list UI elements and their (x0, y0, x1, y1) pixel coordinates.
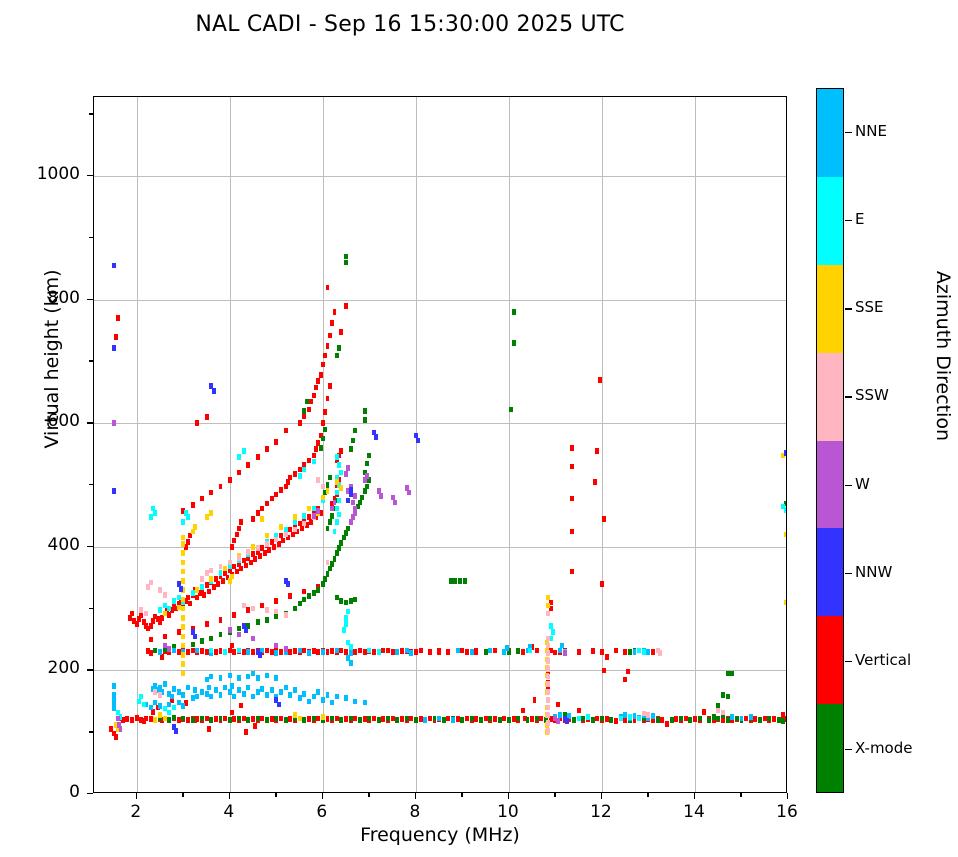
echo-point-x-mode (777, 717, 781, 723)
echo-point-nnw (346, 498, 350, 504)
echo-point-sse (181, 634, 185, 640)
echo-point-vertical (274, 492, 278, 498)
echo-point-vertical (228, 648, 232, 654)
echo-point-e (191, 590, 195, 596)
echo-point-vertical (595, 448, 599, 454)
y-minor-tick (89, 484, 93, 485)
echo-point-vertical (237, 470, 241, 476)
echo-point-x-mode (256, 716, 260, 722)
echo-point-x-mode (535, 716, 539, 722)
echo-point-x-mode (735, 716, 739, 722)
echo-point-vertical (391, 649, 395, 655)
echo-point-vertical (246, 607, 250, 613)
echo-point-e (342, 627, 346, 633)
echo-point-vertical (265, 501, 269, 507)
echo-point-nne (177, 700, 181, 706)
echo-point-nne (209, 694, 213, 700)
echo-point-nne (223, 685, 227, 691)
echo-point-ssw (546, 697, 550, 703)
echo-point-x-mode (363, 488, 367, 494)
echo-point-x-mode (321, 436, 325, 442)
x-tick-label: 6 (292, 802, 352, 822)
echo-point-vertical (251, 516, 255, 522)
echo-point-sse (181, 569, 185, 575)
echo-point-e (200, 584, 204, 590)
echo-point-nne (158, 703, 162, 709)
echo-point-x-mode (458, 578, 462, 584)
echo-point-w (119, 726, 123, 732)
echo-point-ssw (716, 708, 720, 714)
echo-point-x-mode (581, 716, 585, 722)
y-tick (87, 299, 93, 300)
echo-point-vertical (693, 716, 697, 722)
echo-point-vertical (239, 519, 243, 525)
echo-point-vertical (330, 320, 334, 326)
echo-point-nne (302, 691, 306, 697)
echo-point-x-mode (721, 692, 725, 698)
echo-point-e (139, 694, 143, 700)
echo-point-vertical (177, 629, 181, 635)
echo-point-vertical (279, 649, 283, 655)
gridline-horizontal (94, 547, 786, 548)
echo-point-e (333, 529, 337, 535)
x-tick (601, 793, 602, 799)
echo-point-vertical (570, 464, 574, 470)
echo-point-vertical (591, 648, 595, 654)
echo-point-x-mode (716, 716, 720, 722)
echo-point-vertical (302, 648, 306, 654)
gridline-vertical (602, 97, 603, 792)
echo-point-sse (181, 615, 185, 621)
echo-point-sse (181, 578, 185, 584)
echo-point-vertical (598, 377, 602, 383)
echo-point-vertical (753, 716, 757, 722)
echo-point-vertical (214, 716, 218, 722)
echo-point-vertical (414, 649, 418, 655)
echo-point-x-mode (330, 513, 334, 519)
echo-point-sse (205, 514, 209, 520)
echo-point-x-mode (219, 716, 223, 722)
echo-point-e (586, 714, 590, 720)
echo-point-x-mode (358, 500, 362, 506)
echo-point-sse (181, 541, 185, 547)
echo-point-vertical (270, 496, 274, 502)
colorbar-tick (845, 308, 852, 309)
echo-point-e (177, 595, 181, 601)
echo-point-vertical (353, 716, 357, 722)
echo-point-vertical (167, 612, 171, 618)
echo-point-x-mode (479, 717, 483, 723)
echo-point-vertical (595, 716, 599, 722)
echo-point-x-mode (509, 407, 513, 413)
echo-point-x-mode (758, 717, 762, 723)
colorbar-label-ssw: SSW (855, 386, 889, 404)
echo-point-vertical (288, 475, 292, 481)
echo-point-vertical (665, 721, 669, 727)
y-minor-tick (89, 360, 93, 361)
echo-point-nne (749, 714, 753, 720)
echo-point-x-mode (351, 438, 355, 444)
echo-point-e (158, 607, 162, 613)
echo-point-sse (326, 488, 330, 494)
echo-point-x-mode (335, 595, 339, 601)
colorbar-label-vertical: Vertical (855, 651, 911, 669)
echo-point-x-mode (726, 694, 730, 700)
echo-point-ssw (246, 549, 250, 555)
echo-point-vertical (428, 716, 432, 722)
echo-point-e (137, 699, 141, 705)
y-minor-tick (89, 237, 93, 238)
echo-point-sse (195, 587, 199, 593)
echo-point-vertical (235, 532, 239, 538)
echo-point-vertical (400, 716, 404, 722)
echo-point-vertical (465, 649, 469, 655)
echo-point-vertical (605, 716, 609, 722)
echo-point-sse (230, 574, 234, 580)
echo-point-x-mode (316, 587, 320, 593)
y-tick-label: 400 (0, 535, 80, 555)
echo-point-sse (181, 652, 185, 658)
echo-point-nne (344, 695, 348, 701)
echo-point-vertical (291, 532, 295, 538)
echo-point-nne (205, 691, 209, 697)
y-tick-label: 600 (0, 411, 80, 431)
echo-point-nne (230, 683, 234, 689)
echo-point-vertical (319, 372, 323, 378)
echo-point-nne (195, 648, 199, 654)
echo-point-sse (181, 671, 185, 677)
colorbar-tick (845, 220, 852, 221)
y-minor-tick (89, 731, 93, 732)
gridline-vertical (416, 97, 417, 792)
echo-point-x-mode (328, 519, 332, 525)
x-minor-tick (368, 793, 369, 797)
echo-point-nne (251, 694, 255, 700)
echo-point-x-mode (181, 716, 185, 722)
echo-point-x-mode (363, 417, 367, 423)
echo-point-vertical (256, 454, 260, 460)
x-minor-tick (554, 793, 555, 797)
echo-point-nne (646, 649, 650, 655)
echo-point-vertical (602, 668, 606, 674)
echo-point-x-mode (670, 717, 674, 723)
echo-point-vertical (284, 428, 288, 434)
echo-point-vertical (251, 716, 255, 722)
echo-point-e (335, 519, 339, 525)
echo-point-vertical (314, 385, 318, 391)
echo-point-x-mode (786, 718, 787, 724)
echo-point-vertical (358, 648, 362, 654)
colorbar-segment-ssw (817, 353, 843, 442)
echo-point-vertical (660, 717, 664, 723)
echo-point-vertical (577, 649, 581, 655)
echo-point-vertical (144, 716, 148, 722)
echo-point-nne (307, 650, 311, 656)
echo-point-vertical (260, 506, 264, 512)
echo-point-w (333, 500, 337, 506)
echo-point-x-mode (274, 716, 278, 722)
echo-point-ssw (546, 674, 550, 680)
echo-point-nnw (277, 702, 281, 708)
echo-point-vertical (265, 446, 269, 452)
echo-point-e (628, 714, 632, 720)
echo-point-x-mode (781, 718, 785, 724)
echo-point-vertical (521, 649, 525, 655)
echo-point-ssw (139, 607, 143, 613)
echo-point-vertical (200, 648, 204, 654)
echo-point-vertical (600, 649, 604, 655)
echo-point-nne (298, 648, 302, 654)
echo-point-e (549, 623, 553, 629)
echo-point-x-mode (679, 716, 683, 722)
echo-point-ssw (200, 576, 204, 582)
echo-point-vertical (205, 414, 209, 420)
echo-point-vertical (312, 393, 316, 399)
echo-point-vertical (149, 637, 153, 643)
echo-point-vertical (323, 353, 327, 359)
echo-point-vertical (333, 309, 337, 315)
echo-point-sse (163, 716, 167, 722)
echo-point-vertical (600, 581, 604, 587)
echo-point-vertical (474, 649, 478, 655)
echo-point-vertical (321, 420, 325, 426)
echo-point-vertical (553, 650, 557, 656)
echo-point-nnw (174, 728, 178, 734)
echo-point-e (302, 513, 306, 519)
echo-point-x-mode (219, 632, 223, 638)
echo-point-sse (546, 603, 550, 609)
echo-point-vertical (130, 611, 134, 617)
echo-point-x-mode (265, 617, 269, 623)
echo-point-ssw (265, 607, 269, 613)
echo-point-nne (363, 700, 367, 706)
echo-point-sse (209, 576, 213, 582)
echo-point-x-mode (293, 606, 297, 612)
echo-point-x-mode (312, 590, 316, 596)
echo-point-ssw (546, 712, 550, 718)
echo-point-vertical (326, 396, 330, 402)
echo-point-w (353, 506, 357, 512)
echo-point-ssw (237, 555, 241, 561)
echo-point-x-mode (330, 716, 334, 722)
echo-point-ssw (284, 612, 288, 618)
echo-point-vertical (381, 648, 385, 654)
echo-point-vertical (772, 716, 776, 722)
echo-point-vertical (493, 716, 497, 722)
echo-point-ssw (251, 606, 255, 612)
colorbar-label-nne: NNE (855, 122, 887, 140)
echo-point-vertical (265, 648, 269, 654)
gridline-vertical (509, 97, 510, 792)
echo-point-e (784, 507, 787, 513)
echo-point-e (619, 716, 623, 722)
echo-point-nnw (258, 652, 262, 658)
echo-point-vertical (272, 544, 276, 550)
echo-point-vertical (326, 716, 330, 722)
echo-point-vertical (556, 702, 560, 708)
echo-point-ssw (256, 545, 260, 551)
echo-point-e (223, 649, 227, 655)
echo-point-x-mode (326, 571, 330, 577)
echo-point-nne (437, 716, 441, 722)
echo-point-vertical (328, 383, 332, 389)
colorbar-segment-nnw (817, 528, 843, 617)
echo-point-x-mode (463, 578, 467, 584)
echo-point-nne (170, 694, 174, 700)
echo-point-x-mode (656, 717, 660, 723)
echo-point-nne (279, 689, 283, 695)
echo-point-vertical (339, 648, 343, 654)
echo-point-x-mode (337, 545, 341, 551)
echo-point-x-mode (386, 716, 390, 722)
echo-point-x-mode (312, 716, 316, 722)
echo-point-e (293, 519, 297, 525)
echo-point-vertical (353, 649, 357, 655)
colorbar-tick (845, 661, 852, 662)
echo-point-x-mode (335, 550, 339, 556)
x-tick (694, 793, 695, 799)
echo-point-x-mode (460, 717, 464, 723)
echo-point-x-mode (349, 716, 353, 722)
echo-point-w (563, 650, 567, 656)
echo-point-x-mode (767, 716, 771, 722)
gridline-horizontal (94, 176, 786, 177)
echo-point-sse (181, 560, 185, 566)
azimuth-colorbar (816, 88, 844, 793)
echo-point-e (209, 648, 213, 654)
echo-point-nnw (416, 438, 420, 444)
echo-point-e (219, 570, 223, 576)
echo-point-vertical (216, 581, 220, 587)
echo-point-nne (153, 700, 157, 706)
colorbar-tick (845, 396, 852, 397)
echo-point-vertical (570, 445, 574, 451)
echo-point-e (335, 490, 339, 496)
echo-point-nne (335, 694, 339, 700)
echo-point-x-mode (323, 576, 327, 582)
echo-point-vertical (300, 526, 304, 532)
echo-point-x-mode (344, 254, 348, 260)
echo-point-sse (321, 714, 325, 720)
echo-point-vertical (674, 716, 678, 722)
echo-point-x-mode (363, 408, 367, 414)
y-tick-label: 0 (0, 782, 80, 802)
echo-point-vertical (230, 643, 234, 649)
y-tick (87, 546, 93, 547)
echo-point-vertical (135, 715, 139, 721)
echo-point-w (237, 632, 241, 638)
echo-point-e (335, 506, 339, 512)
echo-point-ssw (153, 689, 157, 695)
x-tick-label: 2 (106, 802, 166, 822)
echo-point-vertical (539, 716, 543, 722)
echo-point-sse (209, 510, 213, 516)
echo-point-nne (335, 648, 339, 654)
echo-point-nne (209, 674, 213, 680)
echo-point-x-mode (337, 345, 341, 351)
echo-point-vertical (258, 553, 262, 559)
echo-point-w (316, 508, 320, 514)
echo-point-vertical (149, 623, 153, 629)
echo-point-nne (200, 689, 204, 695)
echo-point-nne (237, 687, 241, 693)
echo-point-e (167, 606, 171, 612)
echo-point-nne (288, 692, 292, 698)
gridline-vertical (323, 97, 324, 792)
echo-point-vertical (446, 649, 450, 655)
echo-point-w (556, 718, 560, 724)
echo-point-x-mode (335, 353, 339, 359)
echo-point-ssw (209, 568, 213, 574)
echo-point-x-mode (321, 581, 325, 587)
echo-point-x-mode (526, 717, 530, 723)
echo-point-x-mode (449, 578, 453, 584)
echo-point-ssw (265, 541, 269, 547)
echo-point-nne (158, 649, 162, 655)
x-tick-label: 10 (478, 802, 538, 822)
echo-point-x-mode (302, 408, 306, 414)
echo-point-x-mode (688, 717, 692, 723)
echo-point-vertical (602, 516, 606, 522)
echo-point-vertical (260, 603, 264, 609)
echo-point-nne (312, 694, 316, 700)
echo-point-nne (307, 699, 311, 705)
echo-point-nne (256, 675, 260, 681)
echo-point-nne (112, 692, 116, 698)
echo-point-x-mode (516, 716, 520, 722)
x-tick-label: 12 (571, 802, 631, 822)
echo-point-ssw (144, 611, 148, 617)
echo-point-nne (488, 648, 492, 654)
echo-point-sse (298, 716, 302, 722)
echo-point-x-mode (346, 526, 350, 532)
echo-point-vertical (309, 519, 313, 525)
echo-point-ssw (646, 712, 650, 718)
echo-point-vertical (114, 734, 118, 740)
echo-point-nne (172, 686, 176, 692)
echo-point-vertical (493, 648, 497, 654)
echo-point-ssw (219, 564, 223, 570)
echo-point-ssw (274, 609, 278, 615)
echo-point-nne (558, 712, 562, 718)
echo-point-x-mode (349, 446, 353, 452)
echo-point-ssw (302, 521, 306, 527)
gridline-vertical (137, 97, 138, 792)
echo-point-x-mode (484, 649, 488, 655)
echo-point-nne (623, 712, 627, 718)
echo-point-nne (181, 692, 185, 698)
echo-point-e (312, 459, 316, 465)
echo-point-sse (181, 535, 185, 541)
echo-point-vertical (593, 479, 597, 485)
echo-point-x-mode (365, 484, 369, 490)
echo-point-nne (149, 705, 153, 711)
echo-point-sse (163, 611, 167, 617)
echo-point-nne (246, 685, 250, 691)
echo-point-x-mode (377, 717, 381, 723)
echo-point-ssw (546, 720, 550, 726)
echo-point-x-mode (442, 717, 446, 723)
echo-point-nne (167, 702, 171, 708)
echo-point-vertical (386, 648, 390, 654)
echo-point-nne (228, 673, 232, 679)
y-tick-label: 200 (0, 658, 80, 678)
echo-point-x-mode (328, 475, 332, 481)
echo-point-nnw (193, 634, 197, 640)
echo-point-x-mode (349, 598, 353, 604)
echo-point-vertical (307, 458, 311, 464)
echo-point-nne (730, 714, 734, 720)
